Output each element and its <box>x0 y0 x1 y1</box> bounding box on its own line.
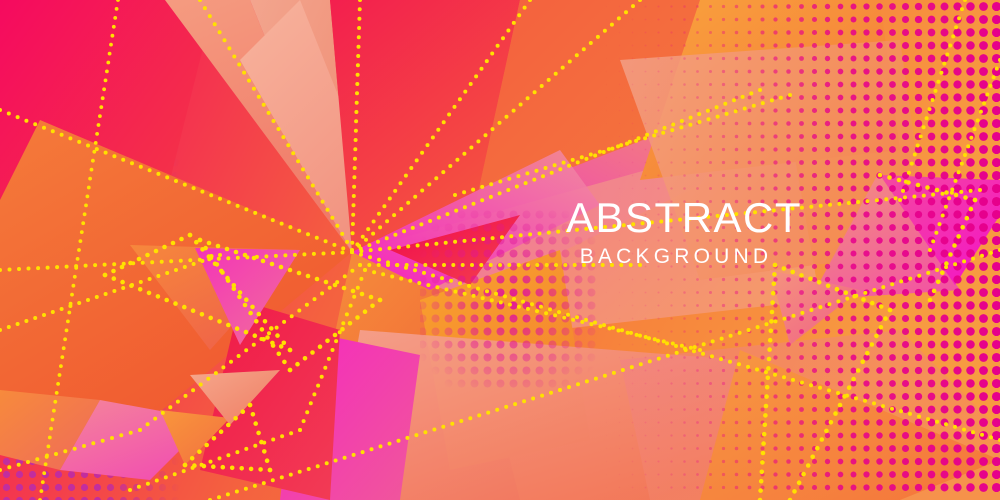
dotline-line-upper-sweep <box>0 108 354 254</box>
dotline-line-bottom-sweep <box>208 248 1000 500</box>
dotline-line-far-right <box>928 58 1000 252</box>
dotline-line-topleft-diagonal <box>38 0 120 500</box>
abstract-background-canvas: ABSTRACT BACKGROUND <box>0 0 1000 500</box>
dotline-line-mid-left-short <box>0 253 222 332</box>
dotline-line-top-steep <box>350 0 362 254</box>
dotline-line-right-steep <box>350 0 642 254</box>
dotted-lines-layer <box>0 0 1000 500</box>
dotline-line-upper-sweep-2 <box>350 88 762 254</box>
dotline-line-bottom-poly-2 <box>128 268 702 492</box>
dotline-tri-left-outline <box>103 233 293 353</box>
dotline-tri-rightlow-outline-2 <box>758 263 778 500</box>
dotline-line-left-long <box>198 0 354 252</box>
dotline-line-right-vertical <box>898 0 967 202</box>
dotline-tri-rightlow-outline <box>773 263 893 500</box>
dotline-tri-lowleft-outline <box>183 403 273 473</box>
dotline-line-upper-sweep-3 <box>350 188 982 254</box>
dotline-line-bottom-poly <box>0 263 642 472</box>
dotline-line-top-right-fan <box>350 0 532 254</box>
dotline-line-lower-long <box>350 250 1000 442</box>
